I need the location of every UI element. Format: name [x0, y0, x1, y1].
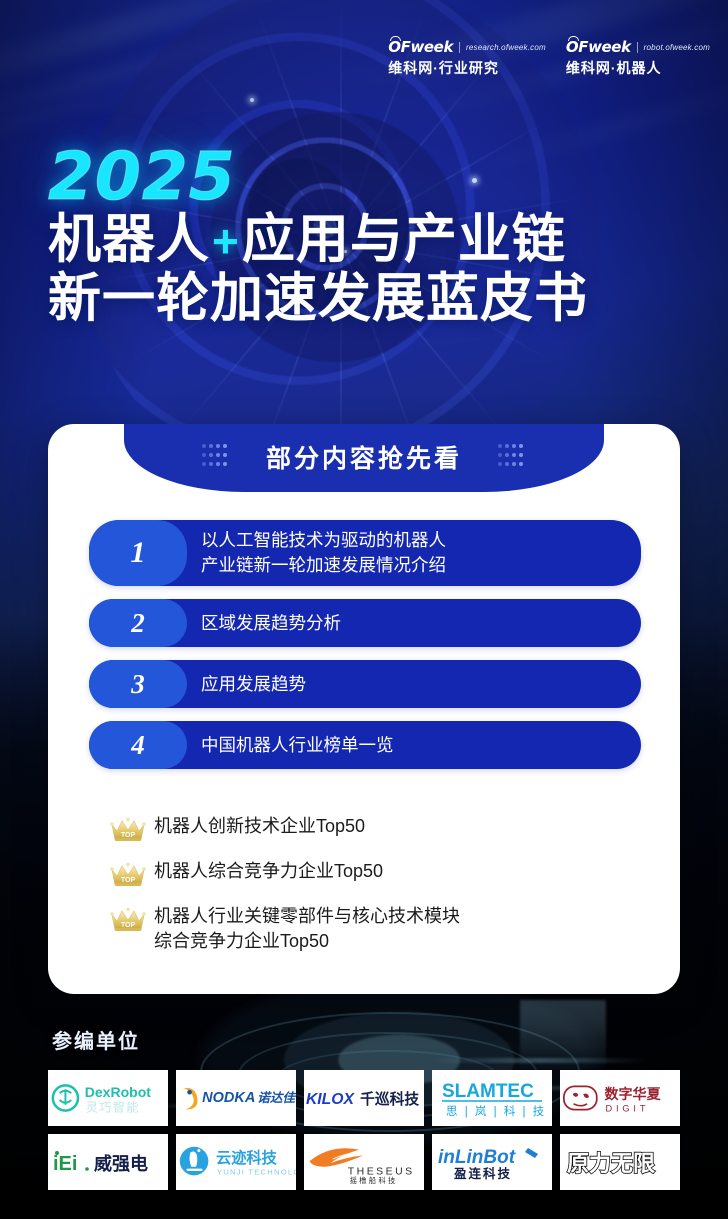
ranking-item[interactable]: TOP 机器人创新技术企业Top50 — [108, 814, 648, 848]
ranking-item-line2: 综合竞争力企业Top50 — [154, 929, 460, 954]
partner-logo-kilox[interactable]: KILOX 千巡科技 — [304, 1070, 424, 1126]
crown-top-icon: TOP — [108, 815, 154, 848]
list-item-text: 应用发展趋势 — [201, 672, 306, 697]
glow-dot — [250, 98, 254, 102]
card-header-banner: 部分内容抢先看 — [124, 424, 604, 492]
title-line1-a: 机器人 — [48, 210, 210, 269]
header-logo-cn: 维科网·机器人 — [566, 58, 710, 78]
partner-logo-yunji[interactable]: 云迹科技 YUNJI TECHNOLOGY — [176, 1134, 296, 1190]
poster-title: 2025 机器人+应用与产业链 新一轮加速发展蓝皮书 — [48, 146, 688, 327]
title-plus-symbol: + — [210, 215, 242, 267]
partner-logo-theseus[interactable]: THESEUS 摇橹船科技 — [304, 1134, 424, 1190]
list-item[interactable]: 2 区域发展趋势分析 — [89, 599, 641, 647]
partner-logo-slamtec[interactable]: SLAMTEC 思 | 岚 | 科 | 技 — [432, 1070, 552, 1126]
list-item[interactable]: 4 中国机器人行业榜单一览 — [89, 721, 641, 769]
svg-text:DIGIT: DIGIT — [605, 1104, 649, 1114]
ofweek-wordmark: OFweek — [388, 38, 453, 56]
list-item-line1: 以人工智能技术为驱动的机器人 — [201, 530, 446, 550]
svg-text:TOP: TOP — [121, 922, 136, 929]
list-item[interactable]: 3 应用发展趋势 — [89, 660, 641, 708]
ranking-item-text: 机器人行业关键零部件与核心技术模块 综合竞争力企业Top50 — [154, 904, 460, 954]
ofweek-wordmark: OFweek — [566, 38, 631, 56]
divider — [637, 42, 638, 53]
list-item[interactable]: 1 以人工智能技术为驱动的机器人 产业链新一轮加速发展情况介绍 — [89, 520, 641, 586]
title-year: 2025 — [48, 146, 688, 209]
svg-text:NODKA: NODKA — [202, 1090, 255, 1106]
partner-logo-digit[interactable]: 数字华夏 DIGIT — [560, 1070, 680, 1126]
svg-text:灵巧智能: 灵巧智能 — [86, 1100, 140, 1115]
svg-text:THESEUS: THESEUS — [348, 1166, 415, 1177]
header-logos: OFweek research.ofweek.com 维科网·行业研究 OFwe… — [388, 38, 710, 78]
svg-text:数字华夏: 数字华夏 — [605, 1086, 662, 1102]
svg-text:原力无限: 原力无限 — [567, 1151, 655, 1176]
partner-logo-dexrobot[interactable]: DexRobot 灵巧智能 — [48, 1070, 168, 1126]
list-item-text: 以人工智能技术为驱动的机器人 产业链新一轮加速发展情况介绍 — [201, 528, 446, 578]
ranking-item-text: 机器人综合竞争力企业Top50 — [154, 859, 383, 884]
svg-text:inLinBot: inLinBot — [438, 1147, 516, 1168]
dot-grid-right-icon — [498, 444, 526, 471]
svg-text:威强电: 威强电 — [94, 1153, 148, 1174]
svg-text:思 | 岚 | 科 | 技: 思 | 岚 | 科 | 技 — [446, 1104, 546, 1118]
partner-logo-iei[interactable]: iEi 威强电 — [48, 1134, 168, 1190]
list-item-line2: 产业链新一轮加速发展情况介绍 — [201, 553, 446, 578]
list-item-text: 区域发展趋势分析 — [201, 611, 341, 636]
svg-text:诺达佳: 诺达佳 — [257, 1091, 296, 1105]
svg-text:千巡科技: 千巡科技 — [360, 1090, 419, 1108]
title-line1-b: 应用与产业链 — [242, 210, 566, 269]
list-item-number: 4 — [89, 721, 187, 769]
svg-text:iEi: iEi — [53, 1153, 77, 1175]
partner-logo-nodka[interactable]: NODKA 诺达佳 — [176, 1070, 296, 1126]
header-logo-research: OFweek research.ofweek.com 维科网·行业研究 — [388, 38, 546, 78]
list-item-number: 2 — [89, 599, 187, 647]
ranking-list: TOP 机器人创新技术企业Top50 TOP 机器人综合竞争力企业Top50 — [108, 814, 648, 965]
header-logo-robot: OFweek robot.ofweek.com 维科网·机器人 — [566, 38, 710, 78]
list-item-number: 1 — [89, 520, 187, 586]
ranking-item[interactable]: TOP 机器人综合竞争力企业Top50 — [108, 859, 648, 893]
svg-text:TOP: TOP — [121, 832, 136, 839]
card-header-title: 部分内容抢先看 — [266, 439, 462, 475]
partners-label: 参编单位 — [52, 1025, 140, 1054]
ranking-item[interactable]: TOP 机器人行业关键零部件与核心技术模块 综合竞争力企业Top50 — [108, 904, 648, 954]
title-line-2: 新一轮加速发展蓝皮书 — [48, 270, 688, 327]
svg-text:YUNJI TECHNOLOGY: YUNJI TECHNOLOGY — [217, 1167, 296, 1176]
list-item-number: 3 — [89, 660, 187, 708]
list-item-text: 中国机器人行业榜单一览 — [201, 733, 394, 758]
partner-logo-inlinbot[interactable]: inLinBot 盈连科技 — [432, 1134, 552, 1190]
header-logo-url: robot.ofweek.com — [644, 43, 710, 52]
content-card: 部分内容抢先看 1 以人工智能技术为驱动的机器人 产业链新一轮加速发展情况介绍 … — [48, 424, 680, 994]
partner-logo-yuanli[interactable]: 原力无限 — [560, 1134, 680, 1190]
svg-text:SLAMTEC: SLAMTEC — [442, 1081, 534, 1102]
divider — [459, 42, 460, 53]
header-logo-cn: 维科网·行业研究 — [388, 58, 546, 78]
content-list: 1 以人工智能技术为驱动的机器人 产业链新一轮加速发展情况介绍 2 区域发展趋势… — [89, 520, 641, 782]
machinery-pillar — [520, 1000, 606, 1070]
poster-root: OFweek research.ofweek.com 维科网·行业研究 OFwe… — [0, 0, 728, 1219]
title-line-1: 机器人+应用与产业链 — [48, 211, 688, 268]
ranking-item-line1: 机器人行业关键零部件与核心技术模块 — [154, 906, 460, 926]
svg-text:摇橹船科技: 摇橹船科技 — [350, 1176, 398, 1185]
header-logo-url: research.ofweek.com — [466, 43, 546, 52]
ranking-item-text: 机器人创新技术企业Top50 — [154, 814, 365, 839]
crown-top-icon: TOP — [108, 905, 154, 938]
partner-logo-grid: DexRobot 灵巧智能 NODKA 诺达佳 KILOX 千巡科技 SLAMT… — [48, 1070, 680, 1190]
svg-text:KILOX: KILOX — [306, 1091, 356, 1108]
svg-text:TOP: TOP — [121, 877, 136, 884]
svg-text:云迹科技: 云迹科技 — [216, 1149, 278, 1167]
crown-top-icon: TOP — [108, 860, 154, 893]
dot-grid-left-icon — [202, 444, 230, 471]
svg-text:DexRobot: DexRobot — [85, 1084, 152, 1100]
svg-text:盈连科技: 盈连科技 — [453, 1166, 512, 1181]
